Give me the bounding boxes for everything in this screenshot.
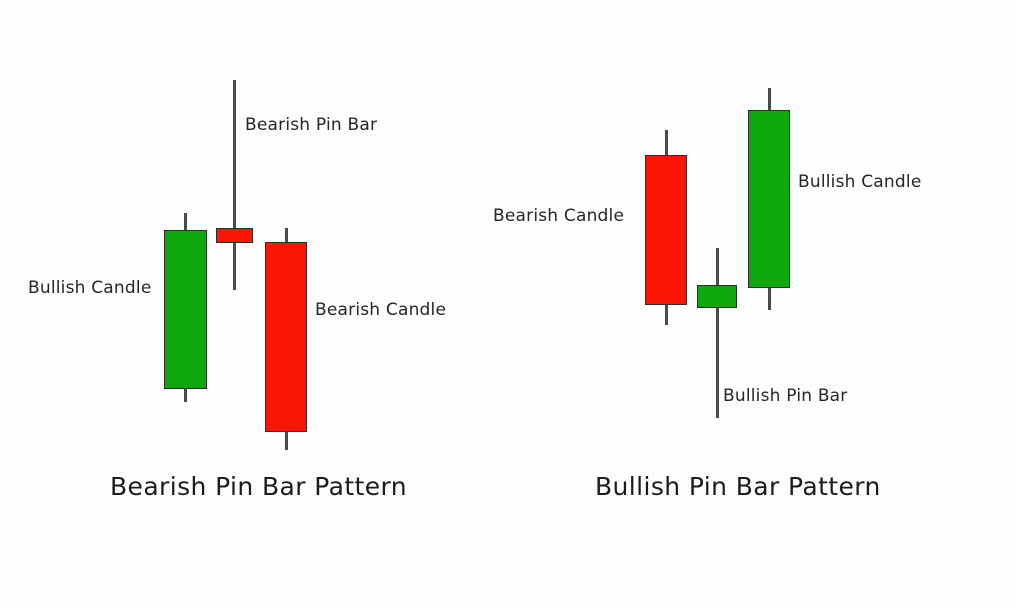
label-bearish-candle-right: Bearish Candle	[493, 208, 624, 225]
label-bullish-candle-right: Bullish Candle	[798, 174, 921, 191]
candle-body-bearish	[645, 155, 687, 305]
candle-body-bullish	[748, 110, 790, 288]
candle-wick	[233, 80, 236, 290]
candlestick-diagram-canvas: Bullish Candle Bearish Pin Bar Bearish C…	[0, 0, 1015, 608]
candle-body-bullish	[697, 285, 737, 308]
label-bullish-candle-left: Bullish Candle	[28, 280, 151, 297]
label-bearish-candle-left: Bearish Candle	[315, 302, 446, 319]
pattern-title-bullish: Bullish Pin Bar Pattern	[595, 474, 881, 499]
label-bearish-pin-bar: Bearish Pin Bar	[245, 117, 377, 134]
label-bullish-pin-bar: Bullish Pin Bar	[723, 388, 848, 405]
candle-wick	[716, 248, 719, 418]
candle-body-bearish	[216, 228, 253, 243]
candle-body-bearish	[265, 242, 307, 432]
candle-body-bullish	[164, 230, 207, 389]
pattern-title-bearish: Bearish Pin Bar Pattern	[110, 474, 407, 499]
